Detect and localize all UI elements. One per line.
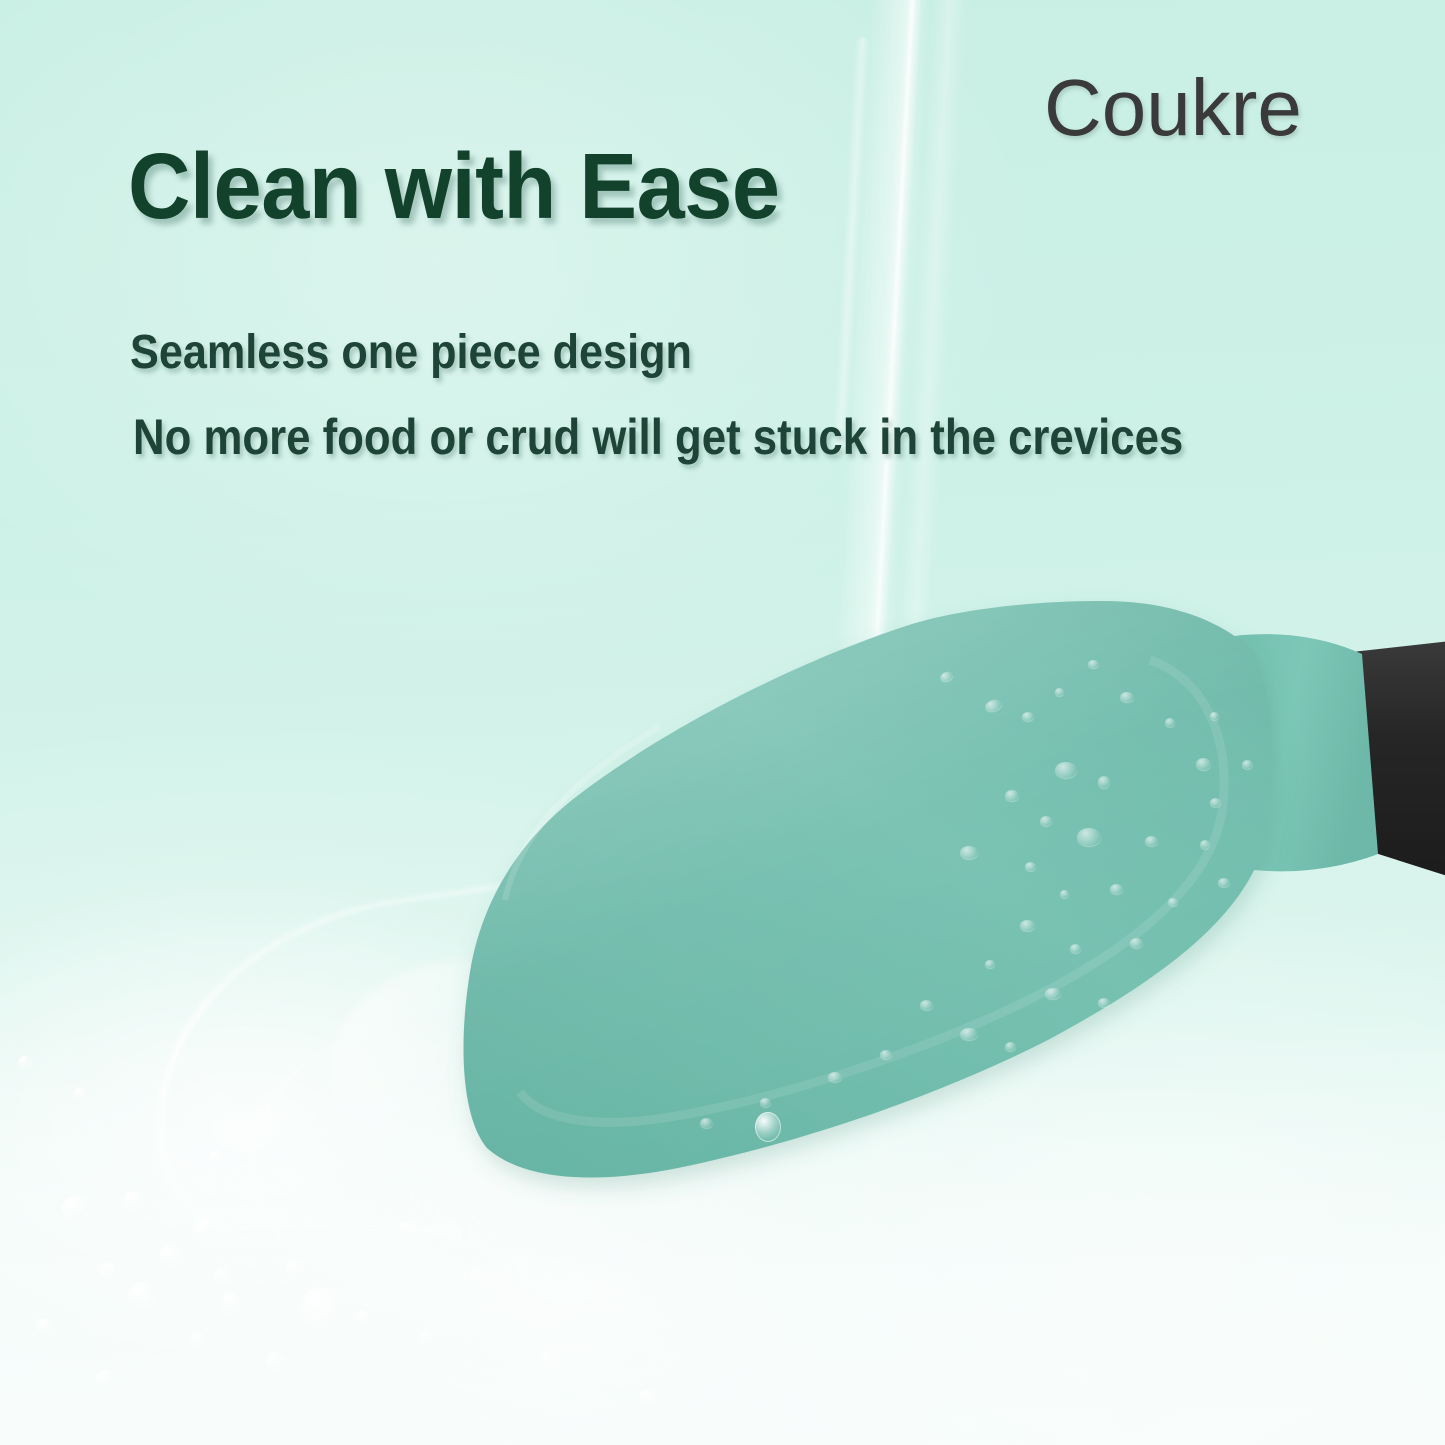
falling-droplet	[755, 1112, 781, 1142]
subheading-no-crevices: No more food or crud will get stuck in t…	[133, 408, 1183, 466]
subheading-seamless-design: Seamless one piece design	[130, 325, 692, 380]
product-marketing-image: Clean with Ease Coukre Seamless one piec…	[0, 0, 1445, 1445]
brand-logo-text: Coukre	[1044, 62, 1302, 154]
page-title: Clean with Ease	[128, 133, 780, 240]
